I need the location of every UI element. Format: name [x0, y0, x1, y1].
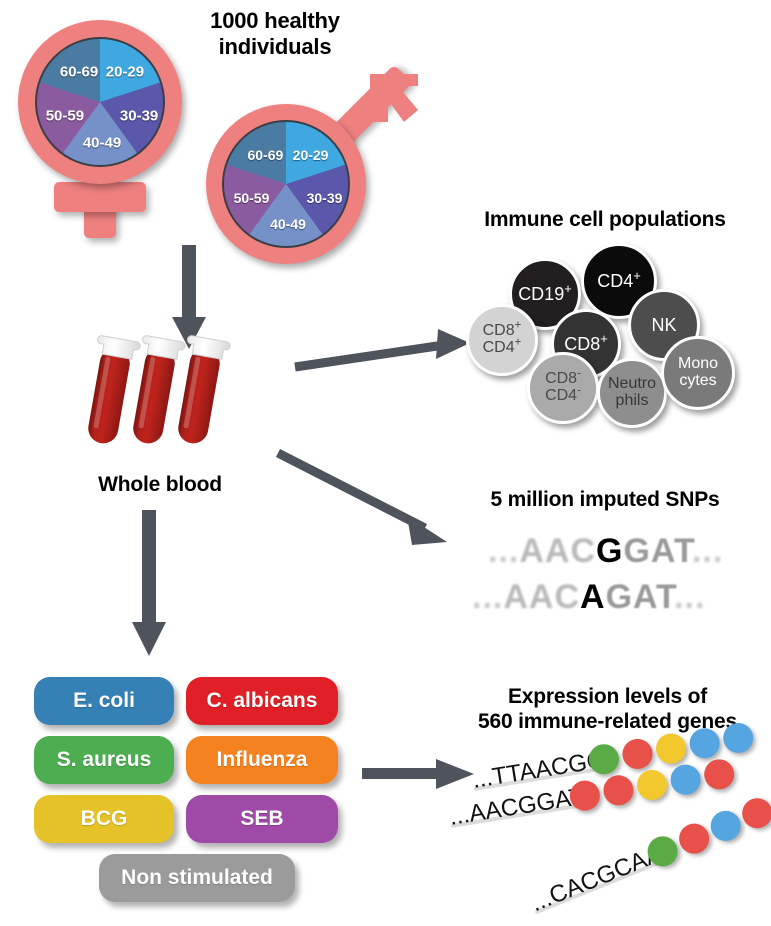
- stimulus-label: SEB: [240, 807, 283, 831]
- immune-cell-neutrophils: Neutrophils: [597, 358, 667, 428]
- whole-blood-tubes: [95, 335, 240, 460]
- cohort-title-line1: 1000 healthy: [180, 8, 370, 34]
- arrow-blood-to-snps: [275, 450, 475, 560]
- snp-trailing-ellipsis: ...: [692, 532, 723, 570]
- immune-cell-cd8cd4: CD8+CD4+: [466, 304, 538, 376]
- stimulus-label: C. albicans: [207, 689, 318, 713]
- cohort-title: 1000 healthy individuals: [180, 8, 370, 60]
- snp-sequence-block: ...AACGGAT......AACAGAT...: [470, 532, 750, 622]
- snp-sequence-line-1: ...AACGGAT...: [488, 532, 723, 571]
- stimulus-pill-seb[interactable]: SEB: [186, 795, 338, 843]
- expression-bead: [738, 794, 771, 833]
- immune-cell-label-line2: phils: [608, 393, 656, 410]
- expression-bead: [668, 762, 702, 796]
- female-symbol-stem-horizontal: [54, 182, 146, 212]
- male-symbol-arrowhead: [360, 70, 430, 140]
- arrow-blood-to-immune: [292, 325, 492, 385]
- age-group-label-60-69: 60-69: [248, 147, 284, 163]
- expression-title-line1: Expression levels of: [450, 685, 765, 710]
- age-group-label-50-59: 50-59: [234, 190, 270, 206]
- snp-variant-base: G: [596, 532, 623, 570]
- female-age-pie-chart: 20-2930-3940-4950-5960-69: [35, 37, 165, 167]
- snp-prefix: AAC: [519, 532, 596, 570]
- stimulus-label: Influenza: [216, 748, 307, 772]
- cohort-title-line2: individuals: [180, 34, 370, 60]
- expression-bead: [654, 731, 688, 765]
- stimulus-label: S. aureus: [57, 748, 152, 772]
- age-group-label-20-29: 20-29: [106, 64, 144, 81]
- immune-cell-label: Mono: [678, 356, 718, 373]
- age-group-label-20-29: 20-29: [293, 147, 329, 163]
- snp-sequence-line-2: ...AACAGAT...: [472, 578, 705, 617]
- immune-cell-label: CD8-: [545, 371, 581, 388]
- age-group-label-30-39: 30-39: [120, 108, 158, 125]
- male-gender-symbol: 20-2930-3940-4950-5960-69: [200, 78, 430, 268]
- immune-cell-cd8cd4: CD8-CD4-: [527, 352, 599, 424]
- immune-cell-label: CD19+: [518, 285, 572, 304]
- immune-cell-label: CD4+: [597, 272, 641, 291]
- immune-populations-title: Immune cell populations: [450, 208, 760, 233]
- expression-bead: [601, 773, 635, 807]
- snp-leading-ellipsis: ...: [488, 532, 519, 570]
- stimulus-pill-s-aureus[interactable]: S. aureus: [34, 736, 174, 784]
- immune-cell-label: CD8+: [564, 335, 608, 354]
- age-group-label-40-49: 40-49: [83, 135, 121, 152]
- immune-cell-label: NK: [651, 316, 676, 335]
- whole-blood-label: Whole blood: [80, 473, 240, 498]
- stimulus-label: BCG: [81, 807, 128, 831]
- expression-strand-sequence: ...CACGCAA: [527, 840, 666, 918]
- age-group-label-50-59: 50-59: [46, 108, 84, 125]
- stimulus-pill-non-stimulated[interactable]: Non stimulated: [99, 854, 295, 902]
- immune-cell-label-line2: CD4+: [483, 340, 522, 357]
- stimulus-label: E. coli: [73, 689, 135, 713]
- male-age-pie-chart: 20-2930-3940-4950-5960-69: [222, 120, 350, 248]
- expression-strand-sequence: ...AACGGAT: [447, 783, 585, 832]
- age-group-label-60-69: 60-69: [60, 64, 98, 81]
- expression-bead: [620, 737, 654, 771]
- snp-variant-base: A: [580, 578, 606, 616]
- immune-cell-label: Neutro: [608, 376, 656, 393]
- stimulus-pill-e-coli[interactable]: E. coli: [34, 677, 174, 725]
- snp-trailing-ellipsis: ...: [674, 578, 705, 616]
- immune-cell-label-line2: cytes: [678, 373, 718, 390]
- snp-leading-ellipsis: ...: [472, 578, 503, 616]
- female-gender-symbol: 20-2930-3940-4950-5960-69: [8, 12, 198, 242]
- snp-suffix: GAT: [623, 532, 691, 570]
- expression-bead: [675, 819, 714, 858]
- figure-canvas: 1000 healthy individuals 20-2930-3940-49…: [0, 0, 771, 922]
- snp-suffix: GAT: [606, 578, 674, 616]
- snps-title: 5 million imputed SNPs: [450, 488, 760, 513]
- expression-bead: [635, 768, 669, 802]
- immune-cell-monocytes: Monocytes: [661, 336, 735, 410]
- expression-bead: [702, 757, 736, 791]
- stimulus-pill-influenza[interactable]: Influenza: [186, 736, 338, 784]
- age-group-label-40-49: 40-49: [270, 216, 306, 232]
- gene-expression-strands: ...TTAACGG...AACGGAT...CACGCAA: [455, 745, 771, 920]
- expression-bead: [706, 806, 745, 845]
- expression-bead: [721, 721, 755, 755]
- snp-prefix: AAC: [503, 578, 580, 616]
- stimulus-label: Non stimulated: [121, 866, 273, 890]
- age-group-label-30-39: 30-39: [307, 190, 343, 206]
- stimulus-pill-c-albicans[interactable]: C. albicans: [186, 677, 338, 725]
- immune-cell-label-line2: CD4-: [545, 388, 581, 405]
- stimulus-pill-bcg[interactable]: BCG: [34, 795, 174, 843]
- arrow-blood-to-stimuli: [130, 510, 170, 660]
- expression-bead: [687, 726, 721, 760]
